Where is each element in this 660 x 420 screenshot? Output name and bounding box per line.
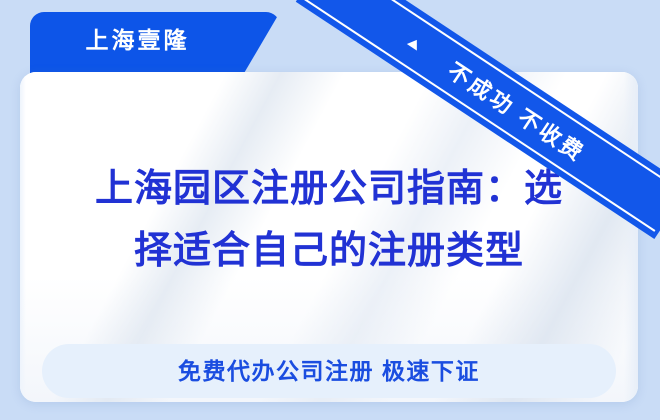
poster-canvas: 上海壹隆 上海园区注册公司指南：选 择适合自己的注册类型 免费代办公司注册 极速… [0, 0, 660, 420]
card-left-edge [20, 72, 26, 402]
headline-title: 上海园区注册公司指南：选 择适合自己的注册类型 [44, 158, 614, 282]
card-right-edge [624, 72, 638, 402]
brand-tab-label: 上海壹隆 [30, 26, 245, 54]
footer-pill: 免费代办公司注册 极速下证 [42, 344, 616, 398]
footer-pill-label: 免费代办公司注册 极速下证 [178, 356, 480, 386]
brand-tab: 上海壹隆 [30, 12, 280, 80]
